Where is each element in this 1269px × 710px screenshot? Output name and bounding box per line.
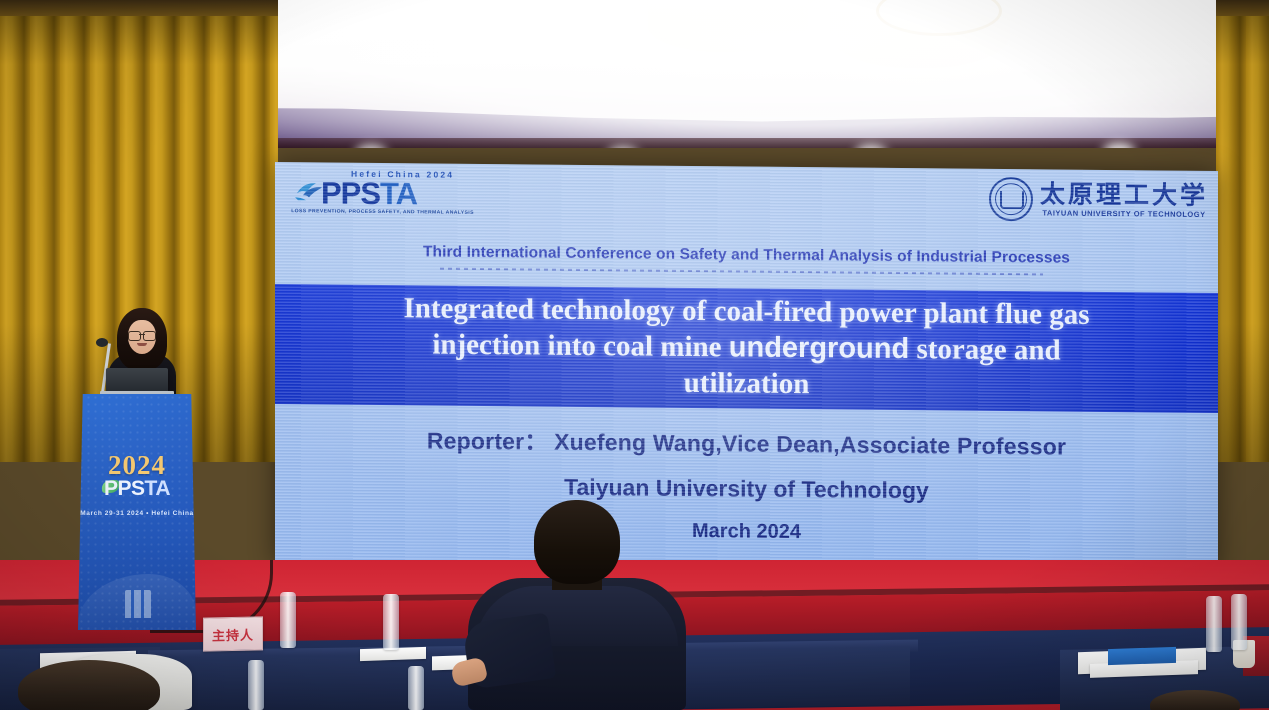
ppsta-subtitle: LOSS PREVENTION, PROCESS SAFETY, AND THE… [291, 208, 474, 216]
podium-date-line: March 29-31 2024 • Hefei China [78, 510, 196, 517]
ppsta-logo: Hefei China 2024 PPSTA LOSS PREVENTION, … [293, 168, 469, 218]
speaker-mouth [137, 343, 147, 346]
podium-brand-b: TA [145, 477, 170, 500]
water-bottle [1206, 596, 1222, 652]
slide-title-line2a: injection into coal mine [432, 329, 728, 364]
conference-line: Third International Conference on Safety… [275, 242, 1218, 269]
conference-line-text: Third International Conference on Safety… [423, 243, 1070, 266]
host-name-sign-text: 主持人 [212, 624, 254, 644]
eyeglasses-icon [128, 331, 156, 339]
conference-underline [440, 268, 1043, 276]
tyut-names: 太原理工大学 TAIYUAN UNIVERSITY OF TECHNOLOGY [1040, 181, 1208, 219]
slide-title-line2c: storage and [909, 333, 1060, 366]
reporter-affiliation: Taiyuan University of Technology [275, 471, 1218, 507]
led-slide-screen: Hefei China 2024 PPSTA LOSS PREVENTION, … [275, 162, 1218, 573]
tyut-logo: 太原理工大学 TAIYUAN UNIVERSITY OF TECHNOLOGY [989, 177, 1208, 223]
reporter-date: March 2024 [275, 516, 1218, 548]
slide-title-line1: Integrated technology of coal-fired powe… [403, 292, 1089, 331]
slide-title-line3: utilization [684, 367, 810, 400]
curtain-valance-left [0, 0, 278, 16]
podium-brand: PPSTA [78, 478, 196, 499]
podium-books-graphic [125, 590, 151, 618]
tyut-english-name: TAIYUAN UNIVERSITY OF TECHNOLOGY [1040, 208, 1208, 219]
water-bottle [1231, 594, 1247, 650]
slide-title-underground: underground [729, 331, 909, 365]
conference-photo: Hefei China 2024 PPSTA LOSS PREVENTION, … [0, 0, 1269, 710]
seated-attendee [468, 500, 686, 710]
water-bottle [408, 666, 424, 710]
ppsta-wordmark-a: PPS [321, 175, 380, 211]
podium-brand-a: PPS [104, 477, 145, 500]
slide-reporter-block: Reporter： Xuefeng Wang,Vice Dean,Associa… [275, 420, 1218, 548]
host-name-sign: 主持人 [203, 616, 263, 651]
curtain-valance-right [1216, 0, 1269, 16]
water-bottle [248, 660, 264, 710]
ppsta-wordmark-b: TA [380, 176, 417, 211]
reporter-name-line: Reporter： Xuefeng Wang,Vice Dean,Associa… [275, 420, 1218, 463]
blue-folder [1108, 647, 1176, 665]
attendee-head [534, 500, 620, 584]
university-seal-icon [989, 177, 1033, 221]
podium-year: 2024 [78, 452, 196, 479]
stage-curtain-right [1216, 0, 1269, 462]
slide-title: Integrated technology of coal-fired powe… [307, 290, 1187, 406]
water-bottle [280, 592, 296, 648]
ppsta-wordmark: PPSTA [321, 177, 417, 209]
microphone-icon [96, 338, 108, 347]
water-bottle [383, 594, 399, 650]
slide-title-bar: Integrated technology of coal-fired powe… [275, 284, 1218, 413]
tyut-chinese-name: 太原理工大学 [1040, 181, 1208, 208]
